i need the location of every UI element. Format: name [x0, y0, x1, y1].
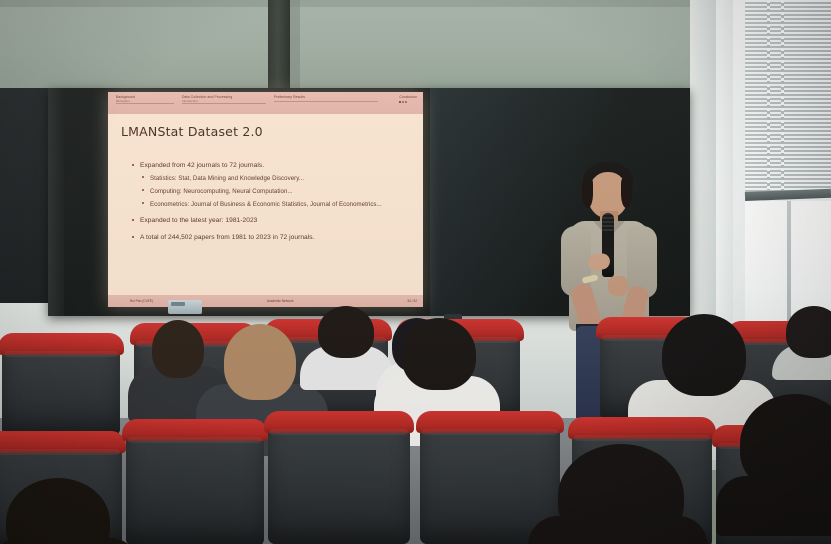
nav-section-data-collection: Data Collection and Processing Introduct… [182, 92, 274, 103]
slide-bullet: A total of 244,502 papers from 1981 to 2… [130, 233, 423, 243]
person-bun-right-of-center-head [318, 306, 374, 358]
nav-underline [274, 101, 378, 102]
nav-section-label: Conclusion [399, 95, 417, 99]
person-bald-center-head [224, 324, 296, 400]
person-ponytail-front-head [558, 444, 684, 544]
blind-cord-right[interactable] [781, 0, 784, 192]
slide-bullet: Expanded to the latest year: 1981-2023 [130, 216, 423, 226]
slide-subbullet: Statistics: Stat, Data Mining and Knowle… [140, 174, 423, 183]
person-left-front-head [402, 318, 476, 390]
nav-dot [402, 101, 404, 103]
slide-bullet-text: Expanded to the latest year: 1981-2023 [140, 217, 257, 224]
wall-column-light [290, 0, 300, 92]
nav-dot [399, 101, 401, 103]
auditorium-seat[interactable] [2, 340, 120, 436]
nav-dot [405, 101, 407, 103]
slide-body: Expanded from 42 journals to 72 journals… [130, 161, 423, 242]
audience-area [0, 306, 831, 544]
nav-section-conclusion: Conclusion [399, 92, 417, 103]
slide-footer-author: Rui Pan (CUFE) [130, 299, 153, 303]
presentation-photo-scene: Background Motivation Data Collection an… [0, 0, 831, 544]
microphone-grille [602, 213, 614, 231]
nav-underline [182, 103, 266, 104]
window-blinds[interactable] [745, 0, 831, 196]
presenter-hair-right [621, 178, 632, 208]
presenter-hair-left [582, 178, 593, 208]
auditorium-seat[interactable] [268, 418, 410, 544]
nav-section-label: Preliminary Results [274, 95, 305, 99]
board-bezel [48, 88, 64, 316]
slide-subbullet-text: Statistics: Stat, Data Mining and Knowle… [150, 175, 304, 182]
auditorium-seat[interactable] [126, 426, 264, 544]
nav-underline [116, 103, 174, 104]
slide-subbullet-text: Computing: Neurocomputing, Neural Comput… [150, 188, 293, 195]
slide-bullet-text: A total of 244,502 papers from 1981 to 2… [140, 234, 315, 241]
person-right-edge-back-head [786, 306, 831, 358]
person-center-front-head [662, 314, 746, 396]
slide-title: LMANStat Dataset 2.0 [121, 124, 423, 139]
slide-subbullet: Econometrics: Journal of Business & Econ… [140, 200, 423, 209]
slide-subbullet: Computing: Neurocomputing, Neural Comput… [140, 187, 423, 196]
board-side-panel [0, 88, 48, 303]
nav-section-background: Background Motivation [116, 92, 182, 103]
blind-cord-left[interactable] [767, 0, 770, 192]
presenter-hand-right [608, 276, 628, 296]
projected-slide: Background Motivation Data Collection an… [108, 92, 423, 307]
slide-section-nav: Background Motivation Data Collection an… [108, 92, 423, 114]
nav-progress-dots [399, 101, 417, 103]
slide-bullet: Expanded from 42 journals to 72 journals… [130, 161, 423, 209]
nav-section-preliminary-results: Preliminary Results [274, 92, 384, 100]
slide-page-number: 34 / 52 [407, 299, 417, 303]
slide-subbullet-text: Econometrics: Journal of Business & Econ… [150, 201, 382, 208]
wall-column-dark [268, 0, 290, 92]
person-back-row-left-head [152, 320, 204, 378]
slide-bullet-text: Expanded from 42 journals to 72 journals… [140, 162, 264, 169]
slide-footer-title: Academic Network [267, 299, 294, 303]
